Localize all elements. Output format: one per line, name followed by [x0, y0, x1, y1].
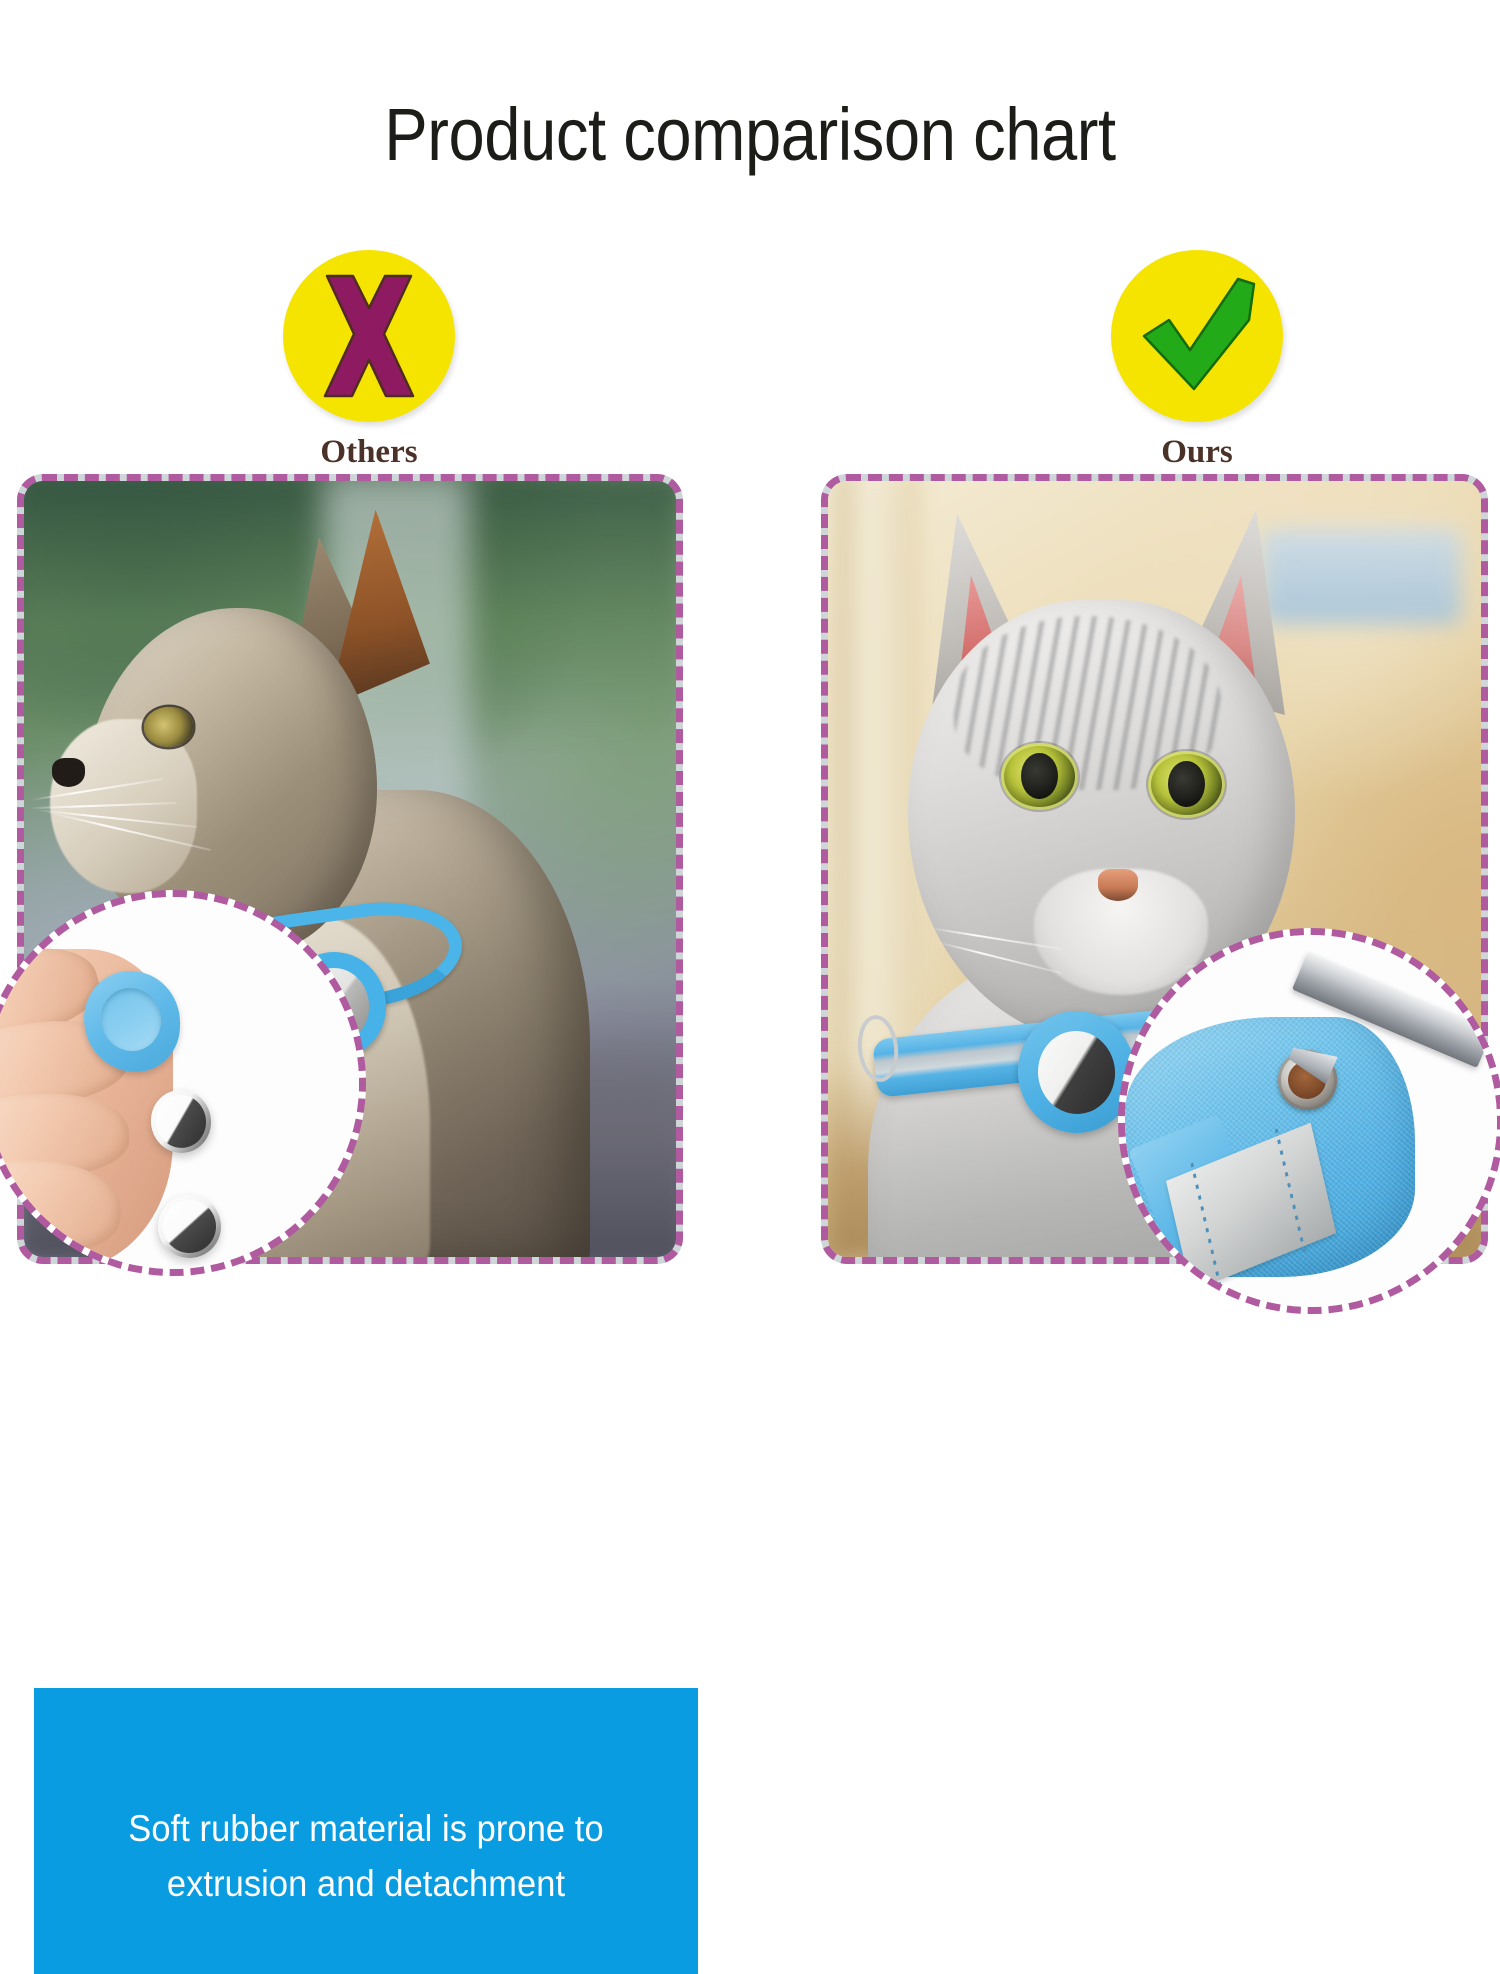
photo-background-window [1261, 529, 1461, 624]
inset-circle-ours [1118, 928, 1500, 1314]
badge-label-others: Others [239, 436, 499, 469]
comparison-column-ours: The mechanical lock buckle cannot come o… [821, 474, 1488, 1500]
cat-nose [1098, 869, 1138, 901]
cat-nose [52, 758, 85, 786]
cat-eye [144, 707, 194, 747]
caption-text-others: Soft rubber material is prone to extrusi… [57, 1802, 675, 1912]
badge-group-ours: Ours [1067, 250, 1327, 469]
badge-label-ours: Ours [1067, 436, 1327, 469]
cross-icon [283, 250, 455, 422]
comparison-column-others: Soft rubber material is prone to extrusi… [17, 474, 683, 1500]
cat-eye-left [1001, 743, 1078, 810]
inset-scene-screw-lock [1125, 935, 1497, 1307]
inset-scene-silicone-detach [0, 897, 359, 1269]
badge-circle-ours [1111, 250, 1283, 422]
caption-panel-others: Soft rubber material is prone to extrusi… [34, 1688, 698, 1974]
page-title: Product comparison chart [90, 98, 1410, 172]
check-icon [1111, 250, 1283, 422]
badge-circle-others [283, 250, 455, 422]
cat-eye-right [1148, 751, 1225, 818]
airtag-device [154, 1191, 225, 1262]
badge-group-others: Others [239, 250, 499, 469]
inset-circle-others [0, 890, 366, 1276]
